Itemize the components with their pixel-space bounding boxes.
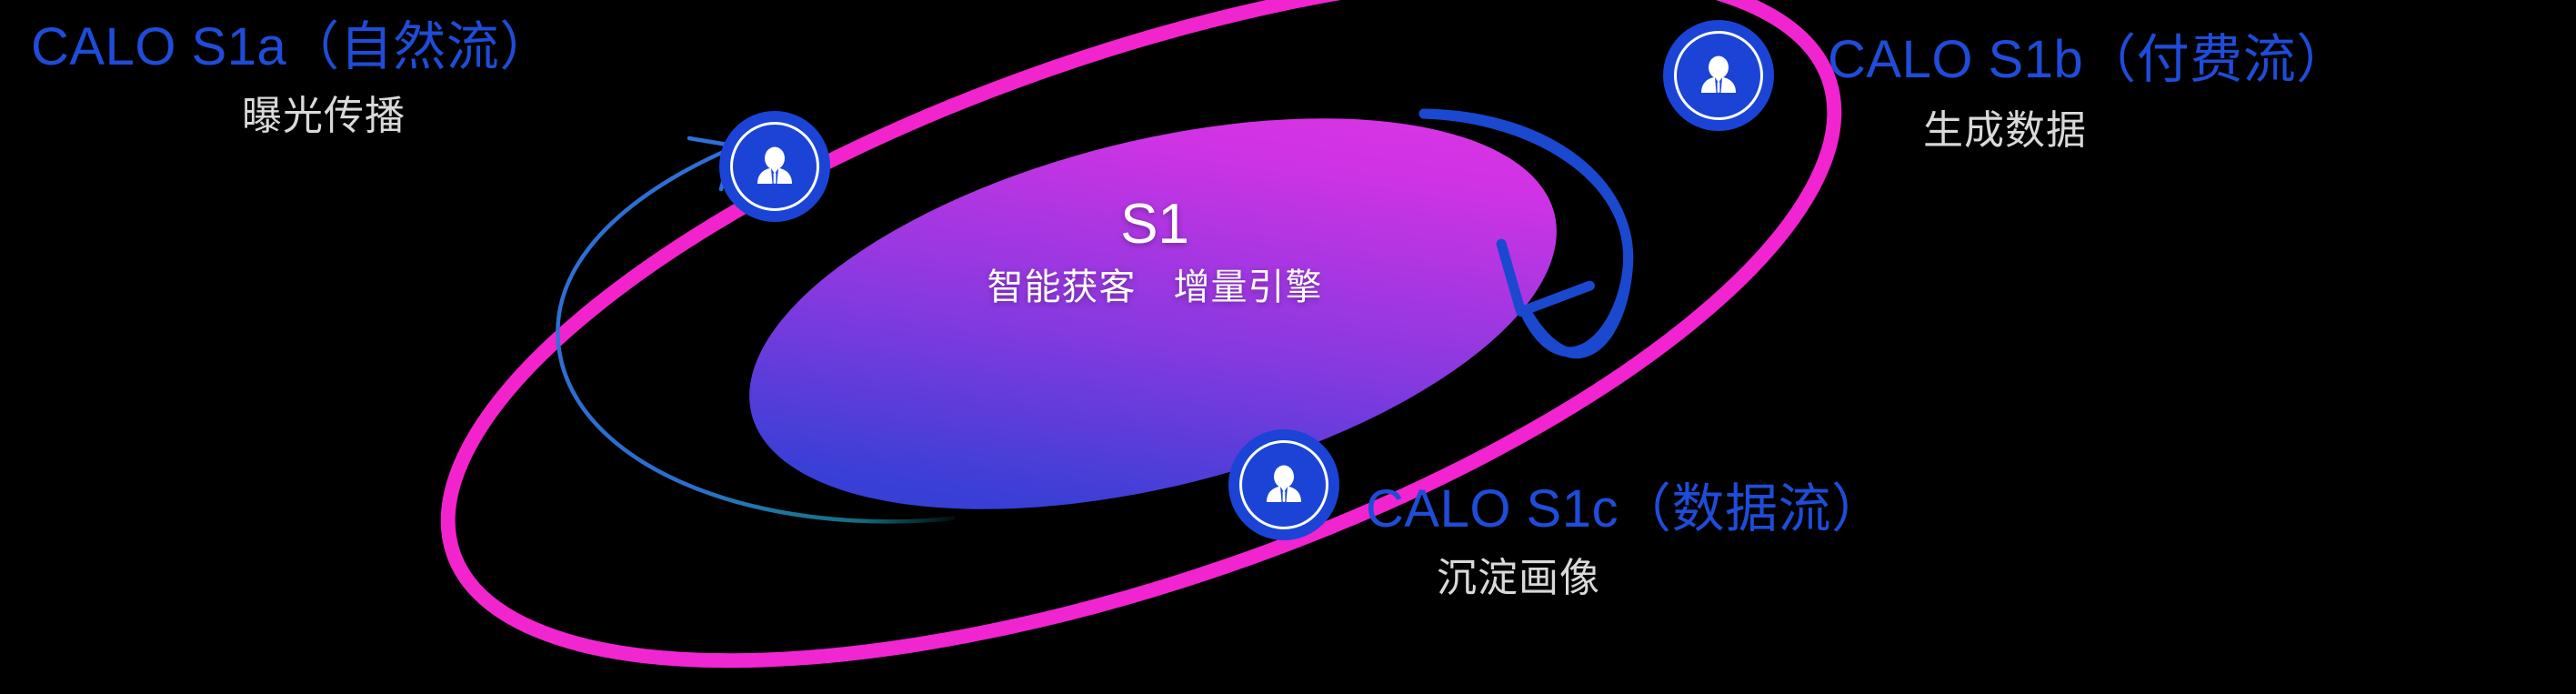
label-subtitle-s1a: 曝光传播 (242, 96, 553, 137)
label-subtitle-s1b: 生成数据 (1923, 110, 2350, 152)
avatar-ring (730, 122, 819, 211)
user-avatar-icon (1695, 52, 1742, 99)
label-title-s1b: CALO S1b（付费流） (1828, 33, 2350, 88)
avatar-ring (1674, 31, 1763, 120)
user-avatar-icon (751, 143, 798, 190)
user-avatar-icon (1260, 461, 1308, 508)
avatar-ring (1239, 440, 1328, 529)
diagram-canvas: S1 智能获客 增量引擎 CALO S1a（自然流） 曝光传播 CALO S1b… (0, 0, 2576, 694)
label-group-s1a: CALO S1a（自然流） 曝光传播 (31, 20, 553, 137)
label-group-s1b: CALO S1b（付费流） 生成数据 (1828, 33, 2350, 152)
node-s1c-avatar[interactable] (1228, 429, 1339, 540)
label-title-s1a: CALO S1a（自然流） (31, 20, 553, 75)
node-s1b-avatar[interactable] (1663, 20, 1774, 131)
label-subtitle-s1c: 沉淀画像 (1437, 558, 1885, 599)
label-title-s1c: CALO S1c（数据流） (1366, 482, 1885, 538)
label-group-s1c: CALO S1c（数据流） 沉淀画像 (1366, 482, 1885, 599)
node-s1a-avatar[interactable] (719, 111, 830, 222)
